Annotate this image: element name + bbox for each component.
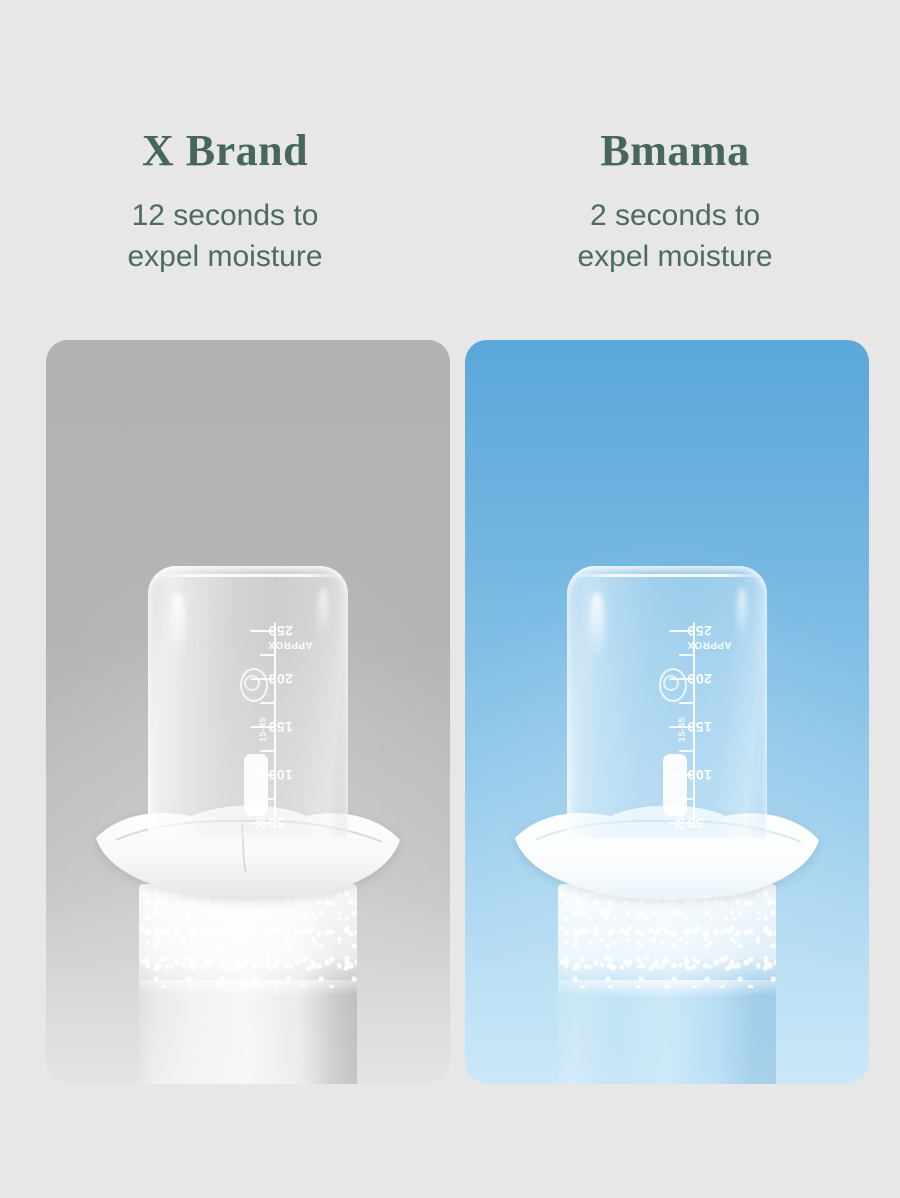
scale-tick-minor: [260, 654, 274, 656]
graduation-label-250: 250: [268, 624, 293, 638]
scale-tick-minor: [260, 750, 274, 752]
photo-panel-x-brand: 50 100 150 200 250 APPROX 25ml 15-45: [46, 340, 450, 1084]
graduation-label-200: 200: [687, 672, 712, 686]
brand-title-bmama: Bmama: [450, 128, 900, 174]
recycling-mold-icon: [240, 668, 268, 702]
claim-text-bmama: 2 seconds to expel moisture: [450, 196, 900, 277]
claim-line-1-x-brand: 12 seconds to: [0, 196, 450, 237]
dome-rim-highlight-left: [152, 574, 344, 577]
bottle-window-chip: [663, 754, 687, 816]
bottle-side-code: 15-45: [677, 717, 687, 742]
brand-title-x-brand: X Brand: [0, 128, 450, 174]
approx-label: APPROX: [687, 639, 732, 650]
scale-tick-minor: [679, 654, 693, 656]
photo-panel-bmama: 50 100 150 200 250 APPROX 25ml 15-45: [465, 340, 869, 1084]
liquid-edge-right: [558, 980, 776, 1006]
bottle-assembly-bmama: 50 100 150 200 250 APPROX 25ml 15-45: [517, 564, 817, 1084]
inverted-bottle-base-left: 50 100 150 200 250 APPROX 25ml 15-45: [148, 566, 348, 838]
graduation-label-150: 150: [268, 720, 293, 734]
inverted-bottle-base-right: 50 100 150 200 250 APPROX 25ml 15-45: [567, 566, 767, 838]
comparison-graphic: X Brand 12 seconds to expel moisture Bma…: [0, 0, 900, 1198]
claim-line-2-bmama: expel moisture: [450, 237, 900, 278]
graduation-label-100: 100: [268, 768, 293, 782]
headings-row: X Brand 12 seconds to expel moisture Bma…: [0, 0, 900, 340]
claim-line-2-x-brand: expel moisture: [0, 237, 450, 278]
bottle-shaft-left: [139, 884, 357, 1084]
dome-rim-highlight-right: [571, 574, 763, 577]
scale-tick-minor: [679, 702, 693, 704]
column-header-x-brand: X Brand 12 seconds to expel moisture: [0, 0, 450, 277]
scale-tick-minor: [260, 702, 274, 704]
graduation-label-50: 50: [687, 816, 704, 830]
graduation-scale-left: 50 100 150 200 250 APPROX 25ml 15-45: [218, 622, 330, 828]
bottle-assembly-x-brand: 50 100 150 200 250 APPROX 25ml 15-45: [98, 564, 398, 1084]
claim-text-x-brand: 12 seconds to expel moisture: [0, 196, 450, 277]
dome-highlight-right: [589, 592, 605, 662]
recycling-mold-icon: [659, 668, 687, 702]
graduation-label-100: 100: [687, 768, 712, 782]
dome-highlight-left: [170, 592, 186, 662]
image-panels-row: 50 100 150 200 250 APPROX 25ml 15-45: [0, 340, 900, 1084]
graduation-label-150: 150: [687, 720, 712, 734]
bottle-side-code: 15-45: [258, 717, 268, 742]
approx-label: APPROX: [268, 639, 313, 650]
bottle-shaft-right: [558, 884, 776, 1084]
graduation-label-50: 50: [268, 816, 285, 830]
liquid-edge-left: [139, 980, 357, 1006]
graduation-label-250: 250: [687, 624, 712, 638]
graduation-scale-right: 50 100 150 200 250 APPROX 25ml 15-45: [637, 622, 749, 828]
column-header-bmama: Bmama 2 seconds to expel moisture: [450, 0, 900, 277]
graduation-label-200: 200: [268, 672, 293, 686]
claim-line-1-bmama: 2 seconds to: [450, 196, 900, 237]
scale-tick-minor: [679, 750, 693, 752]
bottle-window-chip: [244, 754, 268, 816]
